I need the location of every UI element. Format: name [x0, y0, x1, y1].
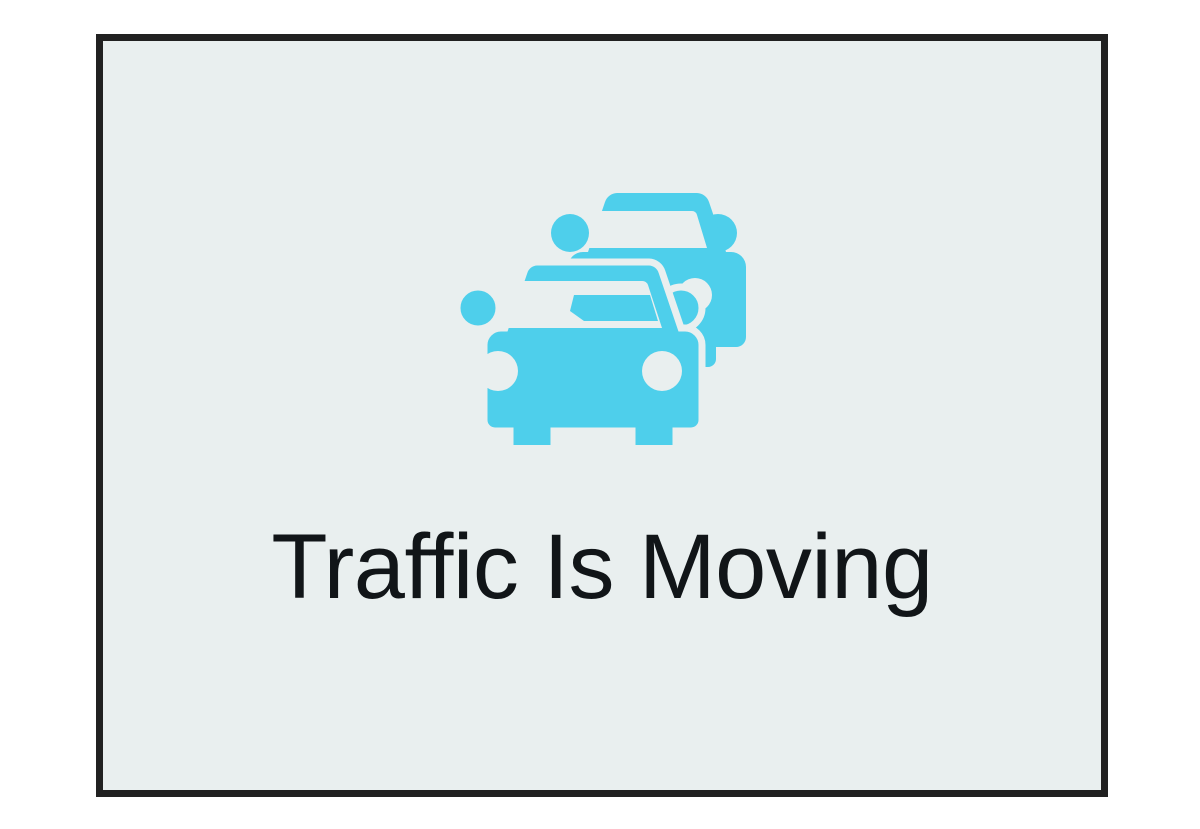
card-caption: Traffic Is Moving: [103, 519, 1101, 616]
front-car-left-mirror: [457, 287, 499, 329]
two-cars-traffic-icon: [456, 189, 748, 445]
rear-car-left-mirror: [551, 214, 589, 252]
traffic-status-card: Traffic Is Moving: [96, 34, 1108, 797]
rear-car-windshield: [587, 211, 707, 248]
front-car-rearview-mirror: [570, 295, 658, 321]
front-car-left-headlight: [478, 351, 518, 391]
front-car-right-headlight: [642, 351, 682, 391]
